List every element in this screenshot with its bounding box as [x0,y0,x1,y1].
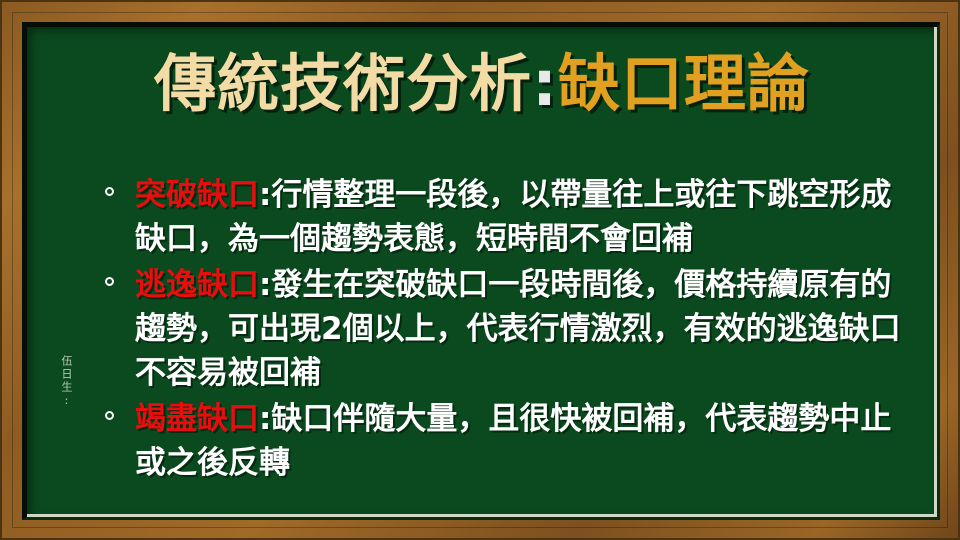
title-accent: 缺口理論 [558,47,810,120]
bullet-text: 突破缺口:行情整理一段後，以帶量往上或往下跳空形成缺口，為一個趨勢表態，短時間不… [135,173,913,261]
slide-title: 傳統技術分析:缺口理論 [27,53,937,115]
slide-canvas: 傳統技術分析:缺口理論 伍日生: 突破缺口:行情整理一段後，以帶量往上或往下跳空… [0,0,960,540]
chalkboard-surface: 傳統技術分析:缺口理論 伍日生: 突破缺口:行情整理一段後，以帶量往上或往下跳空… [27,27,937,517]
bullet-separator: : [259,401,271,437]
bullet-circle-icon [105,411,114,420]
title-separator: : [532,47,558,120]
bullet-circle-icon [105,277,114,286]
bullet-separator: : [259,267,271,303]
bullet-separator: : [259,177,271,213]
bullet-text: 逃逸缺口:發生在突破缺口一段時間後，價格持續原有的趨勢，可出現2個以上，代表行情… [135,263,913,395]
bullet-term: 突破缺口 [135,177,259,213]
bullet-text: 竭盡缺口:缺口伴隨大量，且很快被回補，代表趨勢中止或之後反轉 [135,397,913,485]
chalkboard: 傳統技術分析:缺口理論 伍日生: 突破缺口:行情整理一段後，以帶量往上或往下跳空… [22,22,940,520]
list-item: 突破缺口:行情整理一段後，以帶量往上或往下跳空形成缺口，為一個趨勢表態，短時間不… [101,173,913,261]
side-vertical-note: 伍日生: [57,355,79,409]
bullet-circle-icon [105,187,114,196]
list-item: 竭盡缺口:缺口伴隨大量，且很快被回補，代表趨勢中止或之後反轉 [101,397,913,485]
bullet-term: 逃逸缺口 [135,267,259,303]
bullet-term: 竭盡缺口 [135,401,259,437]
bullet-list: 突破缺口:行情整理一段後，以帶量往上或往下跳空形成缺口，為一個趨勢表態，短時間不… [101,173,913,487]
list-item: 逃逸缺口:發生在突破缺口一段時間後，價格持續原有的趨勢，可出現2個以上，代表行情… [101,263,913,395]
title-primary: 傳統技術分析 [154,47,532,120]
